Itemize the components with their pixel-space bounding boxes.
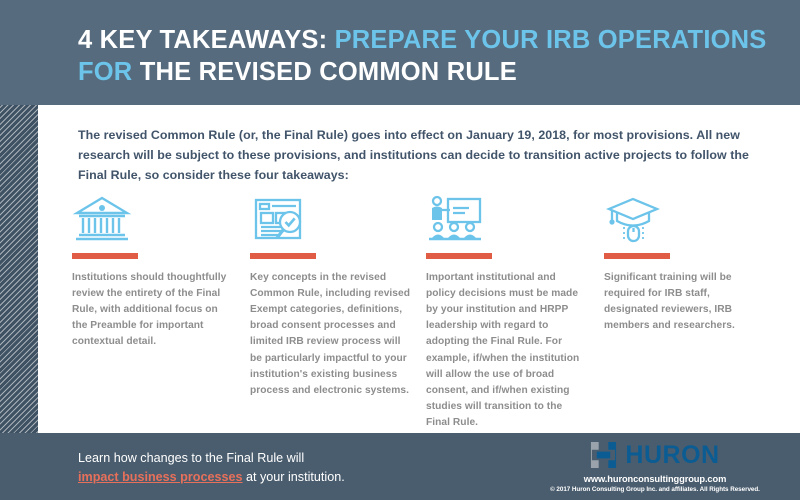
takeaway-column-1: Institutions should thoughtfully review …: [72, 192, 254, 427]
copyright-notice: © 2017 Huron Consulting Group Inc. and a…: [520, 486, 790, 493]
footer-cta: Learn how changes to the Final Rule will…: [78, 449, 478, 487]
takeaway-column-2: Key concepts in the revised Common Rule,…: [250, 192, 432, 427]
accent-bar-3: [426, 253, 492, 259]
title-segment-white-2: the Revised Common Rule: [140, 58, 517, 86]
takeaways-row: Institutions should thoughtfully review …: [38, 192, 762, 427]
takeaway-column-4: Significant training will be required fo…: [604, 192, 786, 427]
takeaway-text-1: Institutions should thoughtfully review …: [72, 270, 232, 351]
brand-block: HURON www.huronconsultinggroup.com © 201…: [520, 441, 790, 493]
takeaway-text-3: Important institutional and policy decis…: [426, 270, 586, 431]
page-title: 4 Key Takeaways: Prepare your IRB Operat…: [78, 24, 778, 88]
graduation-cap-mouse-icon: [604, 192, 764, 244]
footer-cta-lead: Learn how changes to the Final Rule will: [78, 451, 304, 465]
huron-logo: HURON: [520, 441, 790, 469]
takeaway-column-3: Important institutional and policy decis…: [426, 192, 608, 427]
takeaway-text-4: Significant training will be required fo…: [604, 270, 764, 334]
impact-business-processes-link[interactable]: impact business processes: [78, 470, 243, 484]
accent-bar-1: [72, 253, 138, 259]
title-segment-white-1: 4 Key Takeaways:: [78, 26, 335, 54]
brand-website-url[interactable]: www.huronconsultinggroup.com: [520, 474, 790, 484]
huron-logo-mark-icon: [590, 441, 617, 469]
takeaway-text-2: Key concepts in the revised Common Rule,…: [250, 270, 410, 399]
presentation-audience-icon: [426, 192, 586, 244]
accent-bar-2: [250, 253, 316, 259]
accent-bar-4: [604, 253, 670, 259]
footer-cta-tail: at your institution.: [243, 470, 345, 484]
document-review-magnifier-icon: [250, 192, 410, 244]
intro-paragraph: The revised Common Rule (or, the Final R…: [78, 125, 758, 185]
header-band: 4 Key Takeaways: Prepare your IRB Operat…: [0, 0, 800, 105]
footer-band: Learn how changes to the Final Rule will…: [0, 433, 800, 500]
institution-building-icon: [72, 192, 232, 244]
huron-wordmark: HURON: [625, 443, 719, 468]
